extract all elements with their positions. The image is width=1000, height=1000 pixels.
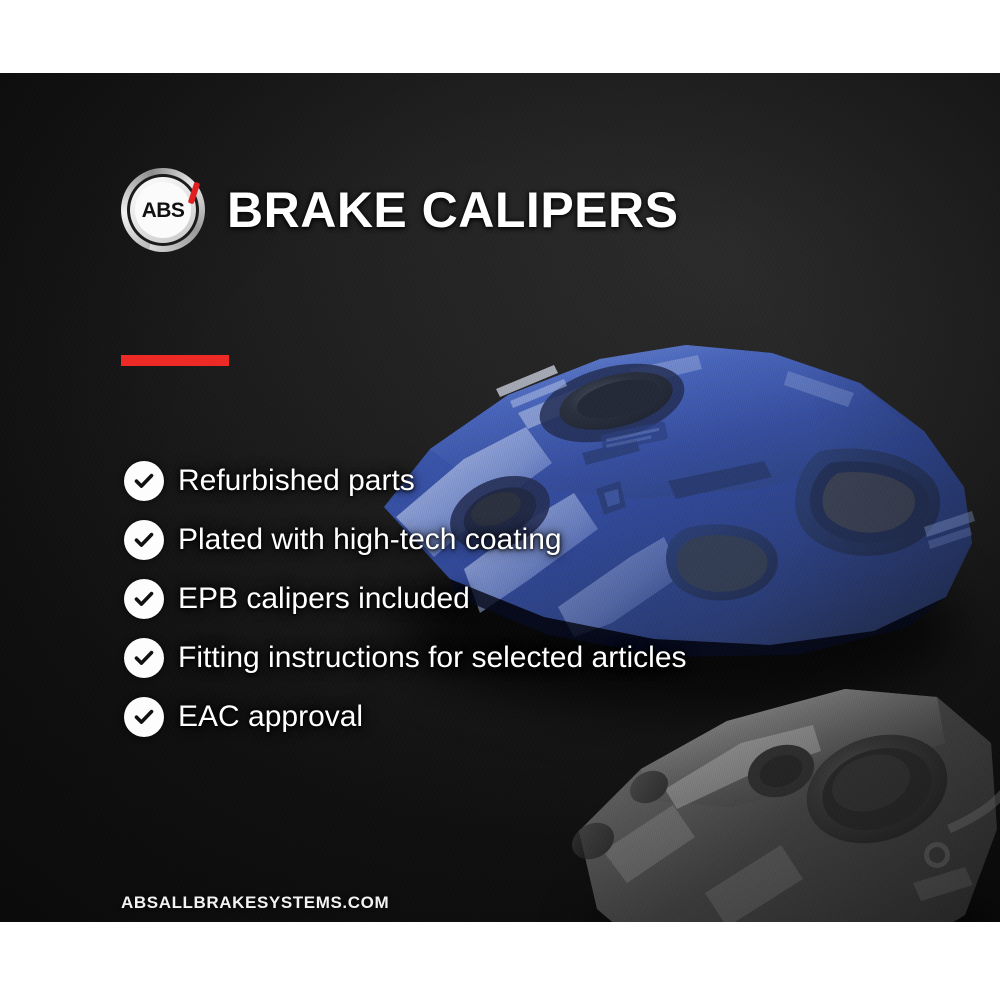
footer-website-url: ABSALLBRAKESYSTEMS.COM [121,893,389,913]
page-title: BRAKE CALIPERS [227,185,678,235]
red-accent-rule [121,355,229,366]
feature-item: Fitting instructions for selected articl… [124,636,824,680]
check-circle-icon [124,638,164,678]
feature-label: EPB calipers included [178,584,470,614]
abs-roundel-logo: ABS [121,168,205,252]
feature-label: Refurbished parts [178,466,415,496]
check-circle-icon [124,579,164,619]
feature-item: EAC approval [124,695,824,739]
check-circle-icon [124,520,164,560]
check-circle-icon [124,461,164,501]
promo-banner: ABS BRAKE CALIPERS Refurbished parts [0,73,1000,922]
logo-wordmark: ABS [142,200,185,221]
feature-label: Plated with high-tech coating [178,525,562,555]
feature-label: Fitting instructions for selected articl… [178,643,687,673]
check-circle-icon [124,697,164,737]
feature-item: Plated with high-tech coating [124,518,824,562]
feature-item: Refurbished parts [124,459,824,503]
logo-disc: ABS [135,182,191,238]
feature-item: EPB calipers included [124,577,824,621]
image-canvas: ABS BRAKE CALIPERS Refurbished parts [0,0,1000,1000]
header: ABS BRAKE CALIPERS [121,168,678,252]
feature-label: EAC approval [178,702,363,732]
feature-list: Refurbished parts Plated with high-tech … [124,459,824,739]
grey-caliper-shadow [590,873,1000,922]
